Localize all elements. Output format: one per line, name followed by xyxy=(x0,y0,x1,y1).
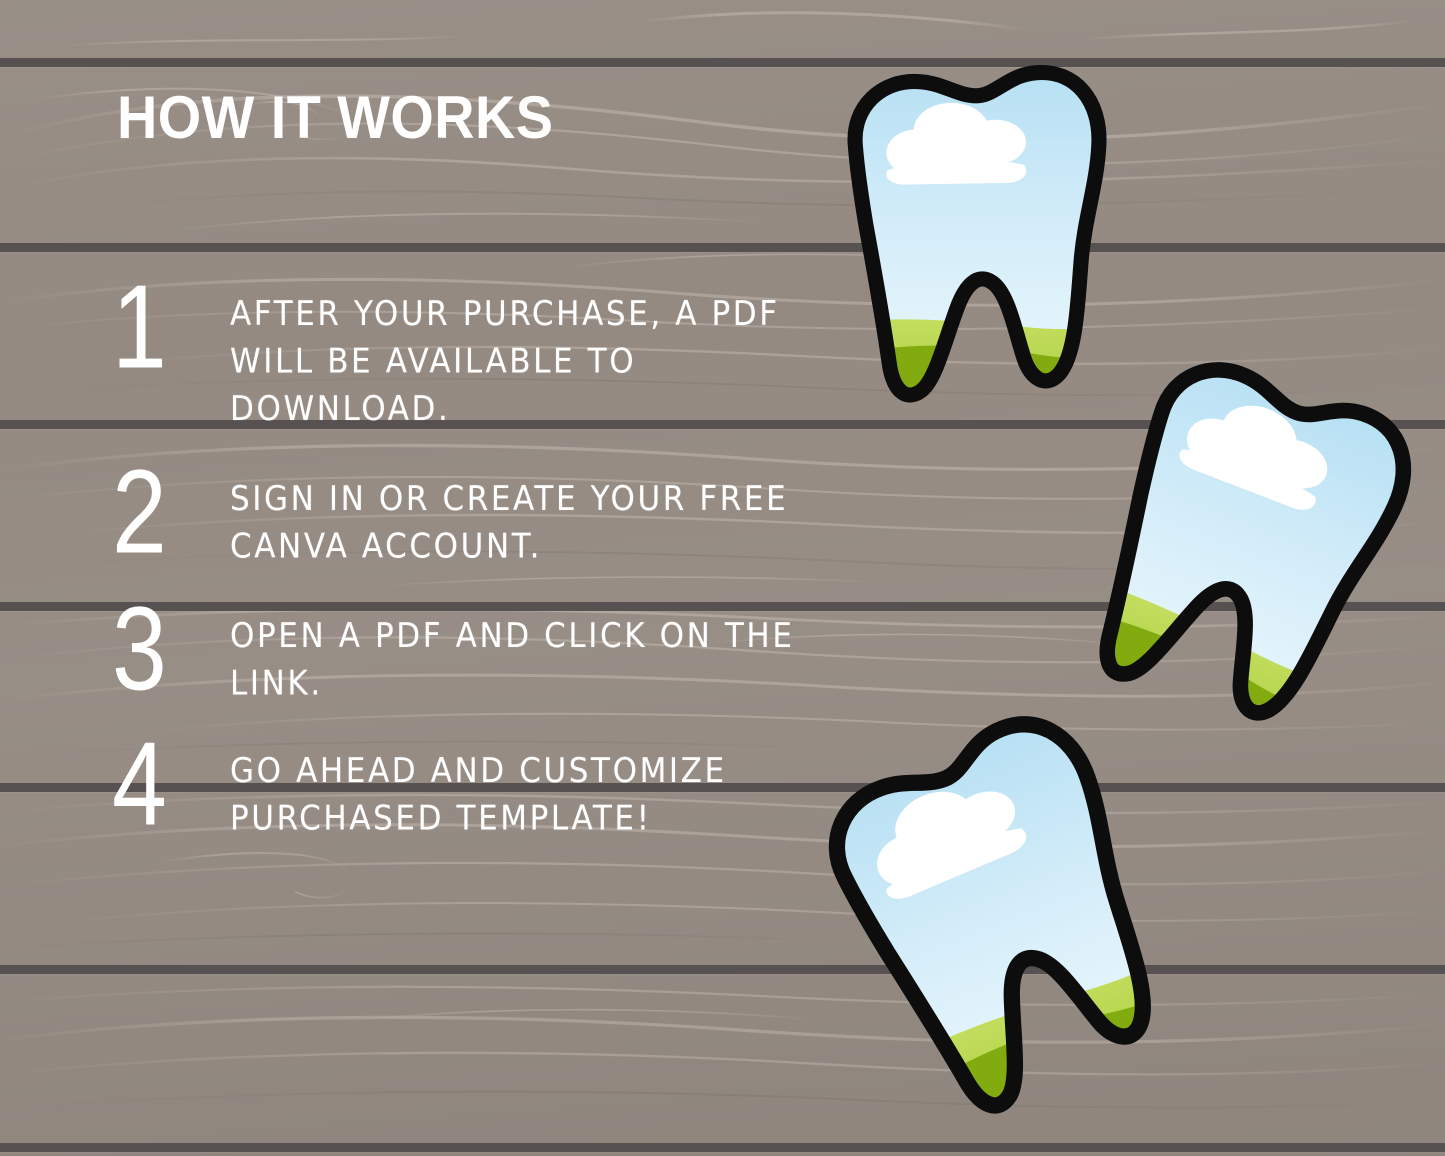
step-item: 1 After your purchase, a PDF will be ava… xyxy=(112,272,832,421)
step-description: Sign in or create your free Canva accoun… xyxy=(230,457,832,570)
step-number: 4 xyxy=(112,729,216,838)
step-number: 3 xyxy=(112,594,216,703)
steps-list: 1 After your purchase, a PDF will be ava… xyxy=(112,272,832,834)
step-number: 2 xyxy=(112,457,216,566)
step-item: 4 Go ahead and customize purchased templ… xyxy=(112,729,832,834)
step-item: 3 Open a PDF and click on the link. xyxy=(112,594,832,699)
poster-canvas: HOW IT WORKS 1 After your purchase, a PD… xyxy=(0,0,1445,1156)
step-number: 1 xyxy=(112,272,216,381)
step-description: After your purchase, a PDF will be avail… xyxy=(230,272,832,433)
step-description: Open a PDF and click on the link. xyxy=(230,594,832,707)
step-item: 2 Sign in or create your free Canva acco… xyxy=(112,457,832,562)
page-title: HOW IT WORKS xyxy=(117,88,553,148)
step-description: Go ahead and customize purchased templat… xyxy=(230,729,832,842)
